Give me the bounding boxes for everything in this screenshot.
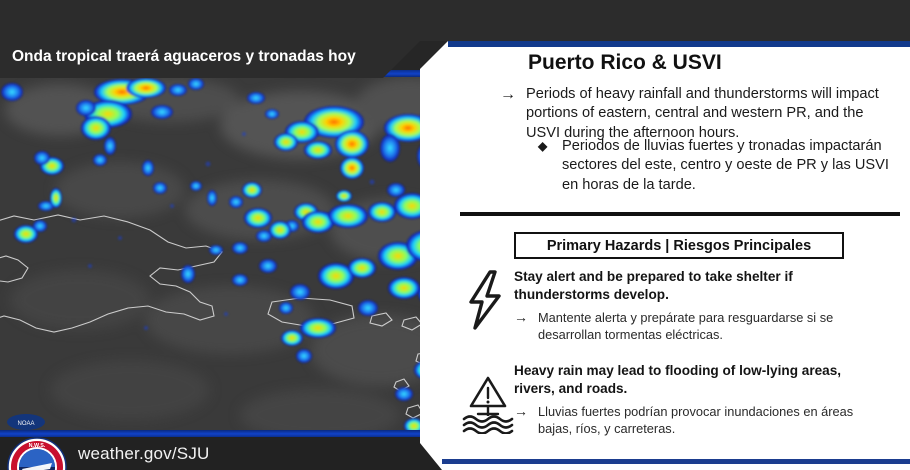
footer-website-url[interactable]: weather.gov/SJU	[78, 444, 210, 464]
hazard-flooding-sub-text: Lluvias fuertes podrían provocar inundac…	[538, 403, 882, 437]
primary-hazards-title-box: Primary Hazards | Riesgos Principales	[514, 232, 844, 259]
hazard-thunderstorm-sub-text: Mantente alerta y prepárate para resguar…	[538, 309, 882, 343]
flood-warning-icon	[460, 372, 516, 434]
section-divider	[460, 212, 900, 216]
forecast-bullet-es: ◆ Periodos de lluvias fuertes y tronadas…	[538, 137, 900, 195]
forecast-bullet-en-text: Periods of heavy rainfall and thundersto…	[526, 85, 900, 143]
forecast-bullet-en: → Periods of heavy rainfall and thunders…	[500, 85, 900, 143]
primary-hazards-title: Primary Hazards | Riesgos Principales	[547, 238, 811, 254]
panel-bottom-rule	[442, 459, 910, 464]
nws-seal-logo: N.W.S. NOAA	[6, 436, 68, 470]
arrow-bullet-icon: →	[514, 309, 538, 343]
arrow-bullet-icon: →	[514, 403, 538, 437]
forecast-bullet-es-text: Periodos de lluvias fuertes y tronadas i…	[562, 137, 900, 195]
weather-graphic: NOAA N.W.S. NOAA weather.gov/SJU TROPICA…	[0, 0, 910, 470]
info-panel-content: Puerto Rico & USVI → Periods of heavy ra…	[448, 47, 910, 459]
hazard-flooding-headline: Heavy rain may lead to flooding of low-l…	[514, 362, 884, 398]
hazard-thunderstorm-sub: → Mantente alerta y prepárate para resgu…	[514, 309, 882, 343]
satellite-radar-image: NOAA	[0, 70, 452, 438]
footer-bar	[0, 437, 470, 470]
noaa-badge-small: NOAA	[7, 414, 45, 430]
lightning-bolt-icon	[462, 269, 508, 331]
header-bar	[0, 0, 910, 41]
arrow-bullet-icon: →	[500, 85, 526, 143]
satellite-radar-canvas: NOAA	[0, 70, 452, 438]
hazard-thunderstorm-headline: Stay alert and be prepared to take shelt…	[514, 268, 884, 304]
page-subtitle: Onda tropical traerá aguaceros y tronada…	[12, 48, 356, 66]
hazard-flooding-sub: → Lluvias fuertes podrían provocar inund…	[514, 403, 882, 437]
svg-text:NOAA: NOAA	[17, 421, 34, 427]
svg-text:N.W.S.: N.W.S.	[29, 443, 46, 449]
panel-heading: Puerto Rico & USVI	[528, 51, 722, 75]
diamond-bullet-icon: ◆	[538, 137, 562, 195]
